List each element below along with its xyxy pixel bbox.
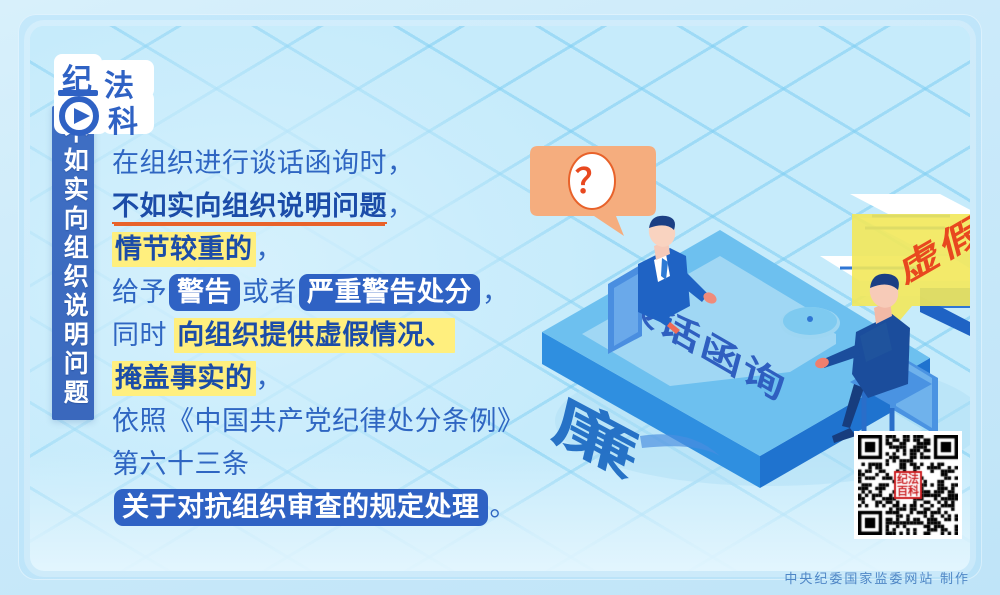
- text-segment-highlighted: 掩盖事实的: [112, 361, 256, 396]
- text-line-7: 依照《中国共产党纪律处分条例》: [112, 400, 532, 443]
- brand-logo[interactable]: 纪 法 科: [52, 52, 156, 138]
- text-segment-pill: 严重警告处分: [299, 274, 480, 311]
- text-segment-plain: 给予: [112, 277, 167, 307]
- text-line-3: 情节较重的，: [112, 228, 532, 271]
- text-segment-plain: 同时: [112, 320, 174, 350]
- logo-char-ke: 科: [108, 106, 138, 138]
- svg-text:？: ？: [575, 164, 609, 201]
- vertical-title-text: 不如实向组织说明问题: [60, 118, 87, 408]
- text-line-1: 在组织进行谈话函询时，: [112, 142, 532, 185]
- qr-code[interactable]: [854, 431, 962, 539]
- text-segment-plain: 依照《中国共产党纪律处分条例》: [112, 406, 525, 436]
- text-line-6: 掩盖事实的，: [112, 357, 532, 400]
- text-segment-highlighted: 向组织提供虚假情况、: [174, 318, 455, 353]
- text-segment-plain: 在组织进行谈话函询时，: [112, 148, 415, 178]
- text-segment-plain: 。: [490, 492, 518, 522]
- body-text-block: 在组织进行谈话函询时， 不如实向组织说明问题， 情节较重的， 给予警告或者严重警…: [112, 142, 532, 529]
- poster-canvas: 谈话函询 ？: [0, 0, 1000, 595]
- footer-credit: 中央纪委国家监委网站 制作: [784, 568, 970, 587]
- text-line-4: 给予警告或者严重警告处分，: [112, 271, 532, 314]
- text-segment-underlined: 不如实向组织说明问题: [112, 191, 387, 224]
- text-segment-pill: 关于对抗组织审查的规定处理: [114, 489, 488, 526]
- vertical-title-banner: 不如实向组织说明问题: [52, 106, 94, 420]
- logo-char-fa: 法: [104, 70, 134, 103]
- text-segment-plain: 或者: [242, 277, 297, 307]
- text-segment-plain: ，: [482, 277, 510, 307]
- text-line-9: 关于对抗组织审查的规定处理。: [112, 486, 532, 529]
- text-segment-highlighted: 情节较重的: [112, 232, 256, 267]
- text-segment-plain: ，: [256, 234, 284, 264]
- text-line-5: 同时 向组织提供虚假情况、: [112, 314, 532, 357]
- text-segment-pill: 警告: [169, 274, 240, 311]
- text-line-8: 第六十三条: [112, 443, 532, 486]
- text-segment-plain: ，: [387, 191, 415, 221]
- text-segment-plain: ，: [256, 363, 284, 393]
- text-line-2: 不如实向组织说明问题，: [112, 185, 532, 228]
- text-segment-plain: 第六十三条: [112, 449, 250, 479]
- question-speech-bubble: ？: [530, 146, 656, 236]
- qr-code-canvas: [858, 435, 958, 535]
